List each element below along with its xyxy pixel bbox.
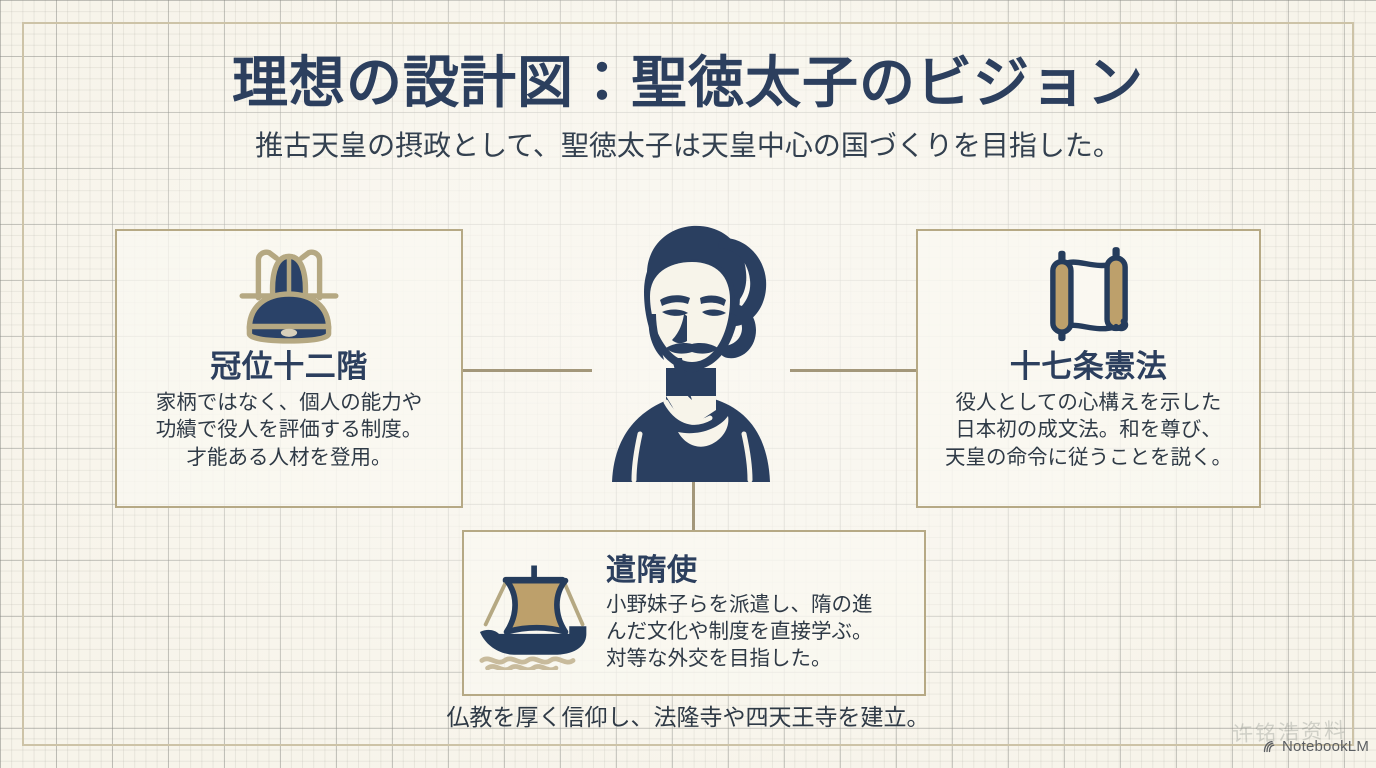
card-body: 役人としての心構えを示した 日本初の成文法。和を尊び、 天皇の命令に従うことを説… bbox=[945, 389, 1232, 471]
card-title: 遣隋使 bbox=[606, 554, 873, 589]
card-title: 十七条憲法 bbox=[1010, 349, 1168, 385]
card-title: 冠位十二階 bbox=[210, 349, 368, 385]
card-body: 小野妹子らを派遣し、隋の進 んだ文化や制度を直接学ぶ。 対等な外交を目指した。 bbox=[606, 591, 873, 672]
page-title: 理想の設計図：聖徳太子のビジョン bbox=[0, 52, 1376, 115]
page-subtitle: 推古天皇の摂政として、聖徳太子は天皇中心の国づくりを目指した。 bbox=[0, 129, 1376, 163]
sailing-ship-icon bbox=[474, 556, 598, 670]
scroll-icon bbox=[1033, 245, 1145, 345]
connector-line-left bbox=[462, 369, 592, 372]
notebooklm-badge: NotebookLM bbox=[1262, 738, 1369, 755]
connector-line-bottom bbox=[692, 478, 695, 531]
notebooklm-label: NotebookLM bbox=[1282, 738, 1369, 755]
card-body: 家柄ではなく、個人の能力や 功績で役人を評価する制度。 才能ある人材を登用。 bbox=[156, 389, 423, 471]
footer-note: 仏教を厚く信仰し、法隆寺や四天王寺を建立。 bbox=[0, 704, 1376, 732]
slide-header: 理想の設計図：聖徳太子のビジョン 推古天皇の摂政として、聖徳太子は天皇中心の国づ… bbox=[0, 52, 1376, 162]
notebooklm-spark-icon bbox=[1262, 739, 1277, 754]
shotoku-taishi-portrait-icon bbox=[588, 218, 792, 482]
card-jushichijo-kenpo[interactable]: 十七条憲法 役人としての心構えを示した 日本初の成文法。和を尊び、 天皇の命令に… bbox=[916, 229, 1261, 508]
slide-canvas: 理想の設計図：聖徳太子のビジョン 推古天皇の摂政として、聖徳太子は天皇中心の国づ… bbox=[0, 0, 1376, 768]
connector-line-right bbox=[790, 369, 918, 372]
card-kanni-junikai[interactable]: 冠位十二階 家柄ではなく、個人の能力や 功績で役人を評価する制度。 才能ある人材… bbox=[115, 229, 463, 508]
card-kenzuishi[interactable]: 遣隋使 小野妹子らを派遣し、隋の進 んだ文化や制度を直接学ぶ。 対等な外交を目指… bbox=[462, 530, 926, 696]
crown-cap-icon bbox=[235, 245, 343, 345]
